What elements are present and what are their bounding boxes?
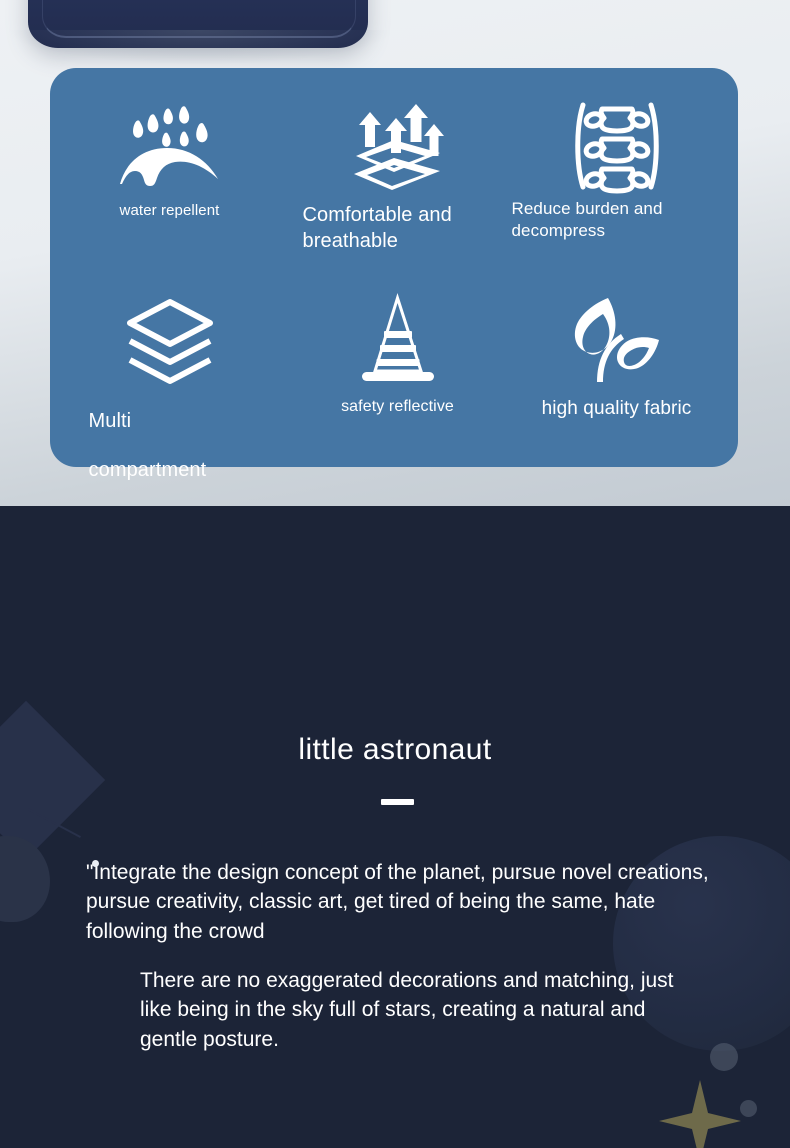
spine-vertebrae-icon — [562, 98, 672, 194]
leaf-sprout-icon — [562, 293, 672, 389]
breathable-layers-arrows-icon — [343, 98, 453, 194]
feature-item-water-repellent[interactable]: water repellent — [55, 98, 284, 221]
feature-label: Multi compartment — [89, 397, 229, 495]
kite-tail — [27, 808, 81, 838]
product-detail-page: water repellent — [0, 0, 790, 1148]
feature-item-reduce-burden[interactable]: Reduce burden and decompress — [502, 98, 731, 242]
safety-cone-icon — [343, 293, 453, 389]
kite-bow — [0, 836, 50, 922]
product-drop-shadow — [10, 30, 390, 64]
title-divider — [381, 799, 414, 805]
story-paragraph-2: There are no exaggerated decorations and… — [140, 966, 700, 1054]
four-point-star-icon — [655, 1076, 745, 1148]
feature-item-safety-reflective[interactable]: safety reflective — [283, 293, 512, 417]
feature-label: high quality fabric — [542, 397, 692, 421]
feature-label: safety reflective — [341, 397, 454, 417]
water-droplets-icon — [115, 98, 225, 194]
moon-circle-icon — [740, 1100, 757, 1117]
feature-label: Reduce burden and decompress — [512, 198, 722, 242]
feature-item-multi-compartment[interactable]: Multi compartment — [55, 293, 284, 495]
feature-item-comfortable-breathable[interactable]: Comfortable and breathable — [283, 98, 512, 255]
moon-circle-icon — [710, 1043, 738, 1071]
feature-highlights-card: water repellent — [50, 68, 738, 467]
stacked-layers-icon — [115, 293, 225, 389]
story-paragraph-1: "Integrate the design concept of the pla… — [86, 858, 712, 946]
page-title: little astronaut — [0, 733, 790, 767]
quote-dot — [92, 860, 99, 867]
feature-label: water repellent — [120, 202, 220, 221]
features-section: water repellent — [0, 0, 790, 506]
kite-icon — [0, 701, 105, 859]
feature-item-high-quality-fabric[interactable]: high quality fabric — [502, 293, 731, 421]
feature-label: Comfortable and breathable — [303, 202, 463, 255]
